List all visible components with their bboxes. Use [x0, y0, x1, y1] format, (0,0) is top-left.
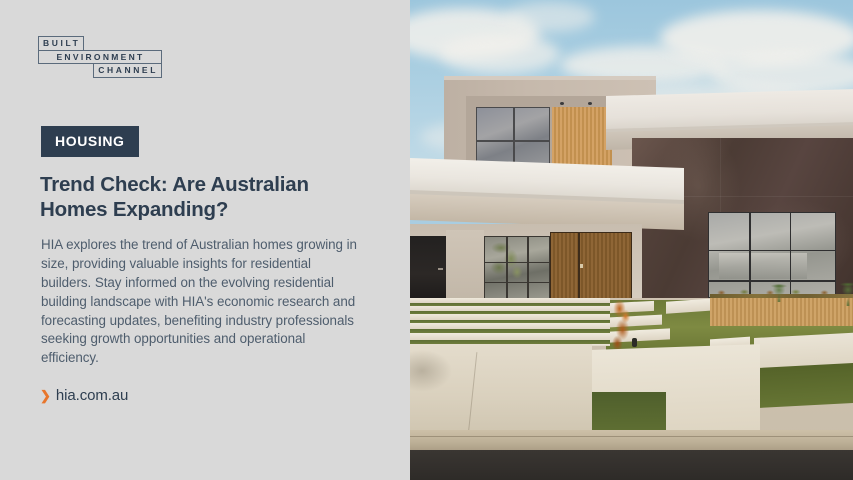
palm-plant [762, 262, 796, 302]
website-link-label: hia.com.au [56, 387, 128, 404]
window-mullion [506, 237, 507, 299]
cloud [505, 2, 595, 32]
content-panel: BUILT ENVIRONMENT CHANNEL HOUSING Trend … [0, 0, 410, 480]
article-summary: HIA explores the trend of Australian hom… [41, 236, 361, 368]
asphalt-street [410, 450, 853, 480]
logo-line-3-row: CHANNEL [38, 63, 162, 78]
curb-line [410, 436, 853, 437]
timber-slat-front-door [550, 232, 632, 300]
garden-spotlight [632, 338, 637, 347]
paving-strip [410, 333, 610, 340]
upper-parapet [444, 76, 656, 80]
page-title: Trend Check: Are Australian Homes Expand… [40, 172, 370, 222]
logo-line-1: BUILT [38, 36, 84, 51]
window-mullion [527, 237, 528, 299]
entry-picture-window [484, 236, 550, 300]
tree-shadow [410, 350, 470, 402]
window-mullion [749, 213, 751, 297]
window-transom [485, 282, 549, 283]
grass-band-right [758, 363, 853, 408]
cloud [440, 34, 560, 74]
house-exterior-photo [410, 0, 853, 480]
chevron-right-icon: ❯ [40, 389, 51, 402]
entry-wall [446, 230, 484, 300]
category-badge-housing[interactable]: HOUSING [41, 126, 139, 157]
paving-strip-zone [410, 298, 610, 346]
built-environment-channel-logo[interactable]: BUILT ENVIRONMENT CHANNEL [38, 36, 162, 78]
logo-line-2-row: ENVIRONMENT [38, 50, 162, 65]
window-transom [709, 250, 835, 252]
soffit-downlights [560, 102, 604, 105]
poster-canvas: BUILT ENVIRONMENT CHANNEL HOUSING Trend … [0, 0, 853, 480]
logo-line-1-row: BUILT [38, 36, 162, 51]
door-handle [438, 268, 443, 270]
upper-timber-slat-panel [552, 107, 612, 172]
window-transom [485, 262, 549, 263]
front-door-handle [580, 264, 583, 268]
logo-line-3: CHANNEL [93, 63, 162, 78]
website-link[interactable]: ❯ hia.com.au [40, 387, 128, 404]
palm-plant [828, 252, 853, 306]
logo-line-2: ENVIRONMENT [38, 50, 162, 65]
street-curb [410, 430, 853, 452]
